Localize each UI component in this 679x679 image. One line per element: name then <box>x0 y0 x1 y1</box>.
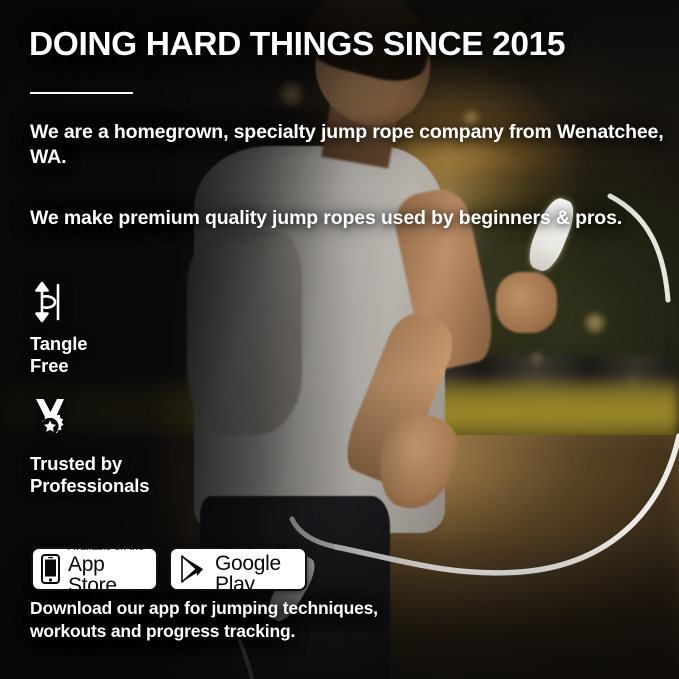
google-play-badge[interactable]: ANDROID APP ON Google Play <box>169 547 307 591</box>
download-cta-line-2: workouts and progress tracking. <box>30 620 378 643</box>
intro-paragraph-1-text: We are a homegrown, specialty jump rope … <box>30 120 679 169</box>
download-cta: Download our app for jumping techniques,… <box>30 597 378 643</box>
app-store-badges: Available on the App Store ANDROID APP O… <box>31 547 307 591</box>
medal-award-icon <box>30 398 70 444</box>
tangle-free-swivel-icon <box>30 280 68 324</box>
download-cta-line-1: Download our app for jumping techniques, <box>30 597 378 620</box>
divider <box>30 92 133 94</box>
ad-content: DOING HARD THINGS SINCE 2015 We are a ho… <box>0 0 679 679</box>
apple-iphone-icon <box>40 554 61 584</box>
app-store-badge-main-line: App Store <box>68 554 148 596</box>
app-store-badge-top-line: Available on the <box>68 542 148 553</box>
app-store-badge-text: Available on the App Store <box>68 542 148 597</box>
google-play-badge-text: ANDROID APP ON Google Play <box>215 543 297 596</box>
google-play-badge-main-line: Google Play <box>215 553 297 595</box>
product-image-ad: DOING HARD THINGS SINCE 2015 We are a ho… <box>0 0 679 679</box>
intro-paragraph-1: We are a homegrown, specialty jump rope … <box>30 120 679 169</box>
app-store-badge[interactable]: Available on the App Store <box>31 547 158 591</box>
google-play-badge-top-line: ANDROID APP ON <box>215 543 297 551</box>
intro-paragraph-2: We make premium quality jump ropes used … <box>30 206 622 231</box>
feature-trusted-by-professionals: Trusted by Professionals <box>30 398 149 497</box>
feature-tangle-free-label: Tangle Free <box>30 333 87 377</box>
page-title: DOING HARD THINGS SINCE 2015 <box>29 27 565 63</box>
feature-tangle-free: Tangle Free <box>30 280 87 377</box>
intro-paragraph-2-text: We make premium quality jump ropes used … <box>30 206 622 231</box>
feature-trusted-label: Trusted by Professionals <box>30 453 149 497</box>
google-play-triangle-icon <box>179 554 208 584</box>
